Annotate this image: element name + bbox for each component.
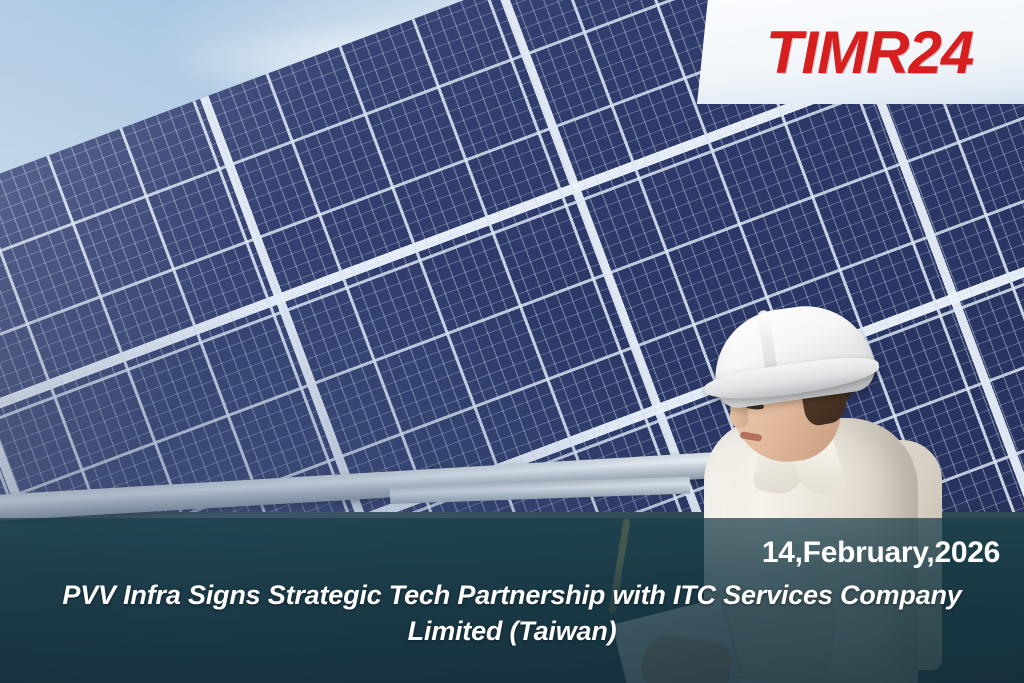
publish-date: 14,February,2026 [762,536,1000,570]
news-card: TIMR24 14,February,2026 PVV Infra Signs … [0,0,1024,683]
date-row: 14,February,2026 [0,518,1024,570]
caption-overlay: 14,February,2026 PVV Infra Signs Strateg… [0,518,1024,683]
brand-badge[interactable]: TIMR24 [697,0,1024,104]
headline-line-1: PVV Infra Signs Strategic Tech Partnersh… [62,580,832,610]
engineer-nose [729,405,748,428]
headline-text: PVV Infra Signs Strategic Tech Partnersh… [0,578,1024,650]
brand-logo-text: TIMR24 [766,18,973,87]
